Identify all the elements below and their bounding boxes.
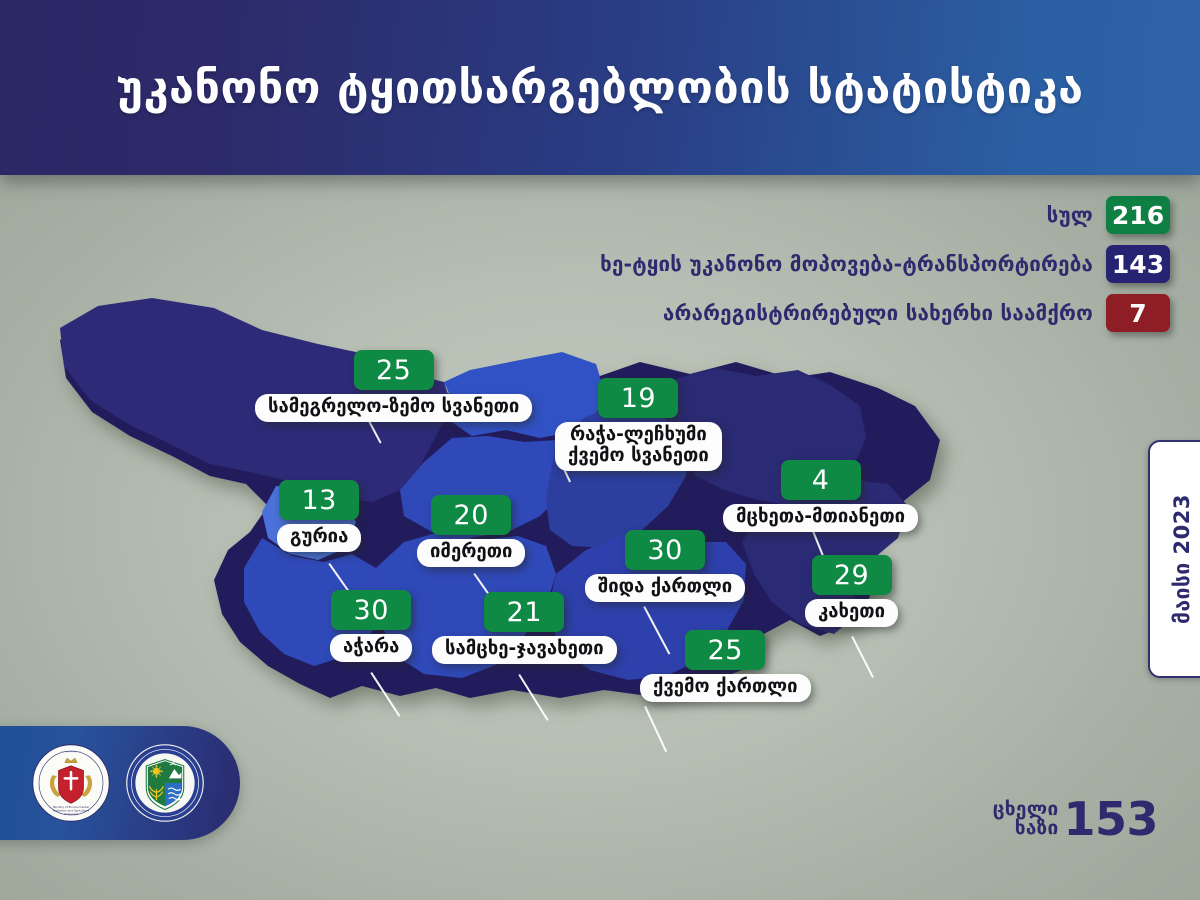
- hotline-line-2: ხაზი: [1015, 819, 1059, 838]
- map-marker-shida-kartli: 30შიდა ქართლი: [585, 530, 745, 602]
- region-value-mtskheta-mtianeti: 4: [781, 460, 861, 500]
- hotline-words: ცხელი ხაზი: [993, 800, 1059, 838]
- region-label-kvemo-kartli: ქვემო ქართლი: [640, 674, 811, 702]
- legend-badge-transport: 143: [1106, 245, 1170, 283]
- svg-text:················: ················: [61, 749, 82, 754]
- region-label-line2-racha-lechkhumi-kvemo-svaneti: ქვემო სვანეთი: [568, 446, 709, 467]
- map-marker-guria: 13გურია: [277, 480, 361, 552]
- map-marker-adjara: 30აჭარა: [330, 590, 412, 662]
- hotline-line-1: ცხელი: [993, 800, 1059, 819]
- map-marker-imereti: 20იმერეთი: [417, 495, 525, 567]
- ministry-emblem-icon: ················ Ministry of Environment…: [32, 744, 110, 822]
- hotline-block: ცხელი ხაზი 153: [993, 798, 1158, 840]
- legend-label-sawmill: არარეგისტრირებული სახერხი საამქრო: [663, 301, 1093, 325]
- region-label-racha-lechkhumi-kvemo-svaneti: რაჭა-ლეჩხუმიქვემო სვანეთი: [555, 422, 722, 471]
- date-panel: მაისი 2023: [1148, 440, 1200, 678]
- header-banner: უკანონო ტყითსარგებლობის სტატისტიკა: [0, 0, 1200, 175]
- region-label-samegrelo-zemo-svaneti: სამეგრელო-ზემო სვანეთი: [255, 394, 532, 422]
- legend-badge-sawmill: 7: [1106, 294, 1170, 332]
- map-marker-mtskheta-mtianeti: 4მცხეთა-მთიანეთი: [723, 460, 918, 532]
- region-value-guria: 13: [279, 480, 359, 520]
- emblem-bar: ················ Ministry of Environment…: [0, 726, 240, 840]
- region-label-mtskheta-mtianeti: მცხეთა-მთიანეთი: [723, 504, 918, 532]
- department-emblem-icon: [126, 744, 204, 822]
- infographic-canvas: უკანონო ტყითსარგებლობის სტატისტიკა: [0, 0, 1200, 900]
- svg-text:of Georgia: of Georgia: [64, 812, 79, 816]
- region-value-kakheti: 29: [812, 555, 892, 595]
- map-marker-samtskhe-javakheti: 21სამცხე-ჯავახეთი: [432, 592, 617, 664]
- hotline-number: 153: [1063, 798, 1158, 840]
- region-value-racha-lechkhumi-kvemo-svaneti: 19: [598, 378, 678, 418]
- legend-label-total: სულ: [1047, 203, 1093, 227]
- region-label-imereti: იმერეთი: [417, 539, 525, 567]
- region-label-line1-racha-lechkhumi-kvemo-svaneti: რაჭა-ლეჩხუმი: [568, 425, 709, 446]
- region-label-kakheti: კახეთი: [805, 599, 898, 627]
- map-marker-racha-lechkhumi-kvemo-svaneti: 19რაჭა-ლეჩხუმიქვემო სვანეთი: [555, 378, 722, 471]
- legend-row-sawmill: არარეგისტრირებული სახერხი საამქრო7: [663, 294, 1200, 332]
- legend-label-transport: ხე-ტყის უკანონო მოპოვება-ტრანსპორტირება: [600, 252, 1093, 276]
- map-marker-kvemo-kartli: 25ქვემო ქართლი: [640, 630, 811, 702]
- region-value-samtskhe-javakheti: 21: [484, 592, 564, 632]
- region-value-imereti: 20: [431, 495, 511, 535]
- map-marker-samegrelo-zemo-svaneti: 25სამეგრელო-ზემო სვანეთი: [255, 350, 532, 422]
- page-title: უკანონო ტყითსარგებლობის სტატისტიკა: [116, 61, 1083, 114]
- legend-row-total: სულ216: [1047, 196, 1200, 234]
- region-label-adjara: აჭარა: [330, 634, 412, 662]
- region-value-adjara: 30: [331, 590, 411, 630]
- legend: სულ216ხე-ტყის უკანონო მოპოვება-ტრანსპორტ…: [580, 196, 1200, 332]
- region-label-guria: გურია: [277, 524, 361, 552]
- region-value-kvemo-kartli: 25: [685, 630, 765, 670]
- map-marker-kakheti: 29კახეთი: [805, 555, 898, 627]
- region-value-samegrelo-zemo-svaneti: 25: [354, 350, 434, 390]
- region-value-shida-kartli: 30: [625, 530, 705, 570]
- region-label-samtskhe-javakheti: სამცხე-ჯავახეთი: [432, 636, 617, 664]
- legend-badge-total: 216: [1106, 196, 1170, 234]
- date-label: მაისი 2023: [1170, 494, 1194, 624]
- legend-row-transport: ხე-ტყის უკანონო მოპოვება-ტრანსპორტირება1…: [600, 245, 1200, 283]
